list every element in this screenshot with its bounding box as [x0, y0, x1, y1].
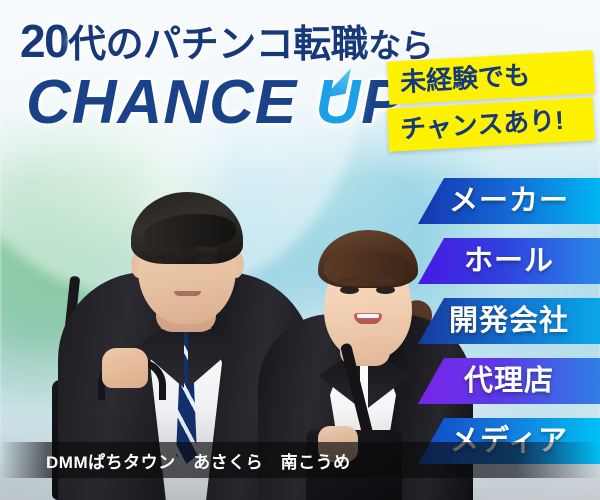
caption-text: DMMぱちタウン あさくら 南こうめ: [0, 448, 351, 473]
woman-eye-left: [340, 286, 359, 294]
category-label-maker: メーカー: [449, 187, 569, 216]
category-label-hall: ホール: [464, 247, 554, 276]
man-hand: [102, 348, 148, 388]
category-button-agency[interactable]: 代理店: [418, 358, 600, 404]
headline-number: 20: [20, 15, 68, 67]
man-eye-left: [158, 257, 179, 264]
recruitment-banner: 20代のパチンコ転職なら CHANCE UP 未経験でも チャンスあり! メーカ…: [0, 0, 600, 500]
badge-line-2: チャンスあり!: [387, 97, 595, 151]
logo-letter-u: U: [315, 68, 361, 137]
inexperienced-welcome-badge: 未経験でも チャンスあり!: [388, 56, 594, 146]
chance-up-logo: CHANCE UP: [26, 72, 404, 134]
man-mouth: [174, 291, 201, 296]
woman-teeth: [357, 314, 379, 318]
category-label-developer: 開発会社: [449, 307, 569, 336]
category-label-agency: 代理店: [464, 367, 554, 396]
badge-line-1: 未経験でも: [387, 50, 595, 104]
category-list: メーカー ホール 開発会社 代理店 メディア: [418, 178, 600, 464]
category-button-hall[interactable]: ホール: [418, 238, 600, 284]
man-eye-right: [196, 257, 217, 264]
caption-strip: DMMぱちタウン あさくら 南こうめ: [0, 442, 600, 478]
headline: 20代のパチンコ転職なら: [20, 18, 433, 64]
category-button-maker[interactable]: メーカー: [418, 178, 600, 224]
woman-eye-right: [376, 286, 395, 294]
headline-middle: 代のパチンコ転職: [68, 24, 368, 66]
category-button-developer[interactable]: 開発会社: [418, 298, 600, 344]
logo-word-chance: CHANCE: [26, 68, 315, 137]
